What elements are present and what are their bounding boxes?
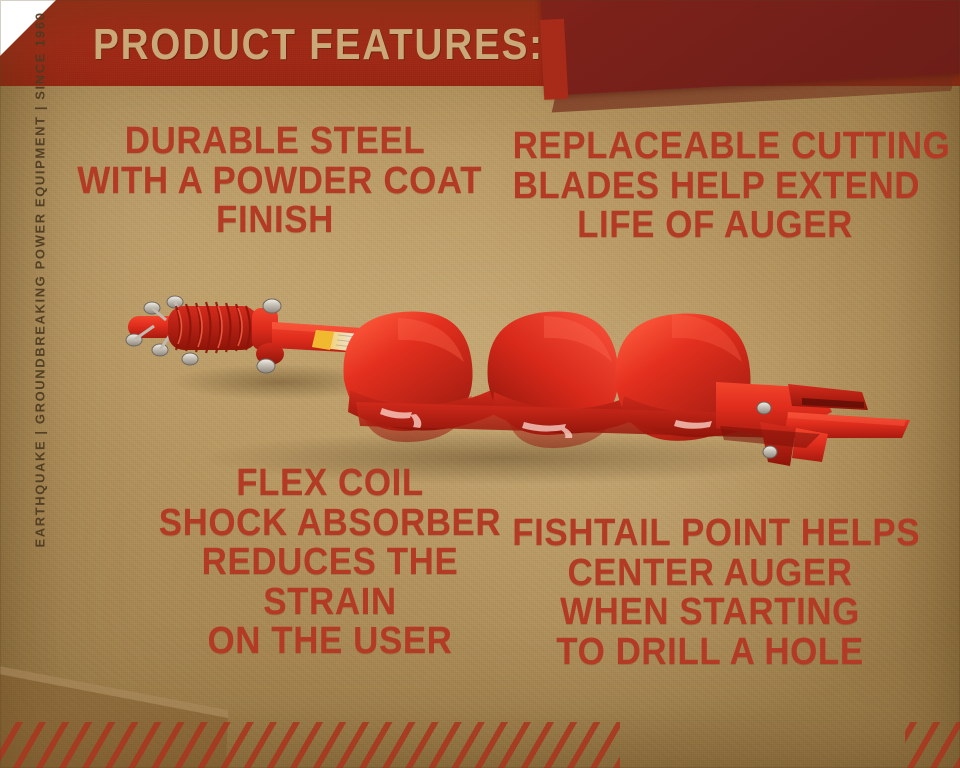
coil-spring (168, 302, 258, 353)
feature-replaceable-blades: REPLACEABLE CUTTING BLADES HELP EXTEND L… (513, 127, 918, 246)
feature-line: FLEX COIL (155, 464, 505, 504)
feature-line: DURABLE STEEL (77, 122, 473, 162)
feature-line: FISHTAIL POINT HELPS (512, 514, 908, 554)
feature-flex-coil: FLEX COIL SHOCK ABSORBER REDUCES THE STR… (155, 464, 505, 662)
feature-durable-steel: DURABLE STEEL WITH A POWDER COAT FINISH (77, 122, 473, 241)
feature-line: TO DRILL A HOLE (512, 633, 908, 673)
hazard-stripes-right (905, 722, 960, 768)
feature-line: REDUCES THE (155, 543, 505, 583)
product-features-poster: PRODUCT FEATURES: EARTHQUAKE | GROUNDBRE… (0, 0, 960, 768)
feature-line: SHOCK ABSORBER (155, 504, 505, 544)
feature-line: WHEN STARTING (512, 593, 908, 633)
feature-fishtail-point: FISHTAIL POINT HELPS CENTER AUGER WHEN S… (512, 514, 908, 672)
feature-line: LIFE OF AUGER (513, 206, 918, 246)
feature-line: BLADES HELP EXTEND (513, 167, 918, 207)
feature-line: REPLACEABLE CUTTING (513, 127, 918, 167)
feature-line: CENTER AUGER (512, 554, 908, 594)
corner-cut-triangle-icon (0, 0, 56, 56)
hazard-stripes-left (0, 722, 620, 768)
hazard-stripe-strip (0, 722, 960, 768)
flex-coil-shock-absorber (126, 296, 284, 373)
ribbon-notch (540, 19, 568, 100)
feature-line: FINISH (77, 201, 473, 241)
brand-tagline-vertical: EARTHQUAKE | GROUNDBREAKING POWER EQUIPM… (33, 68, 48, 548)
product-image-auger (120, 262, 840, 492)
page-title: PRODUCT FEATURES: (93, 20, 544, 70)
feature-line: STRAIN (155, 583, 505, 623)
feature-line: WITH A POWDER COAT (77, 162, 473, 202)
